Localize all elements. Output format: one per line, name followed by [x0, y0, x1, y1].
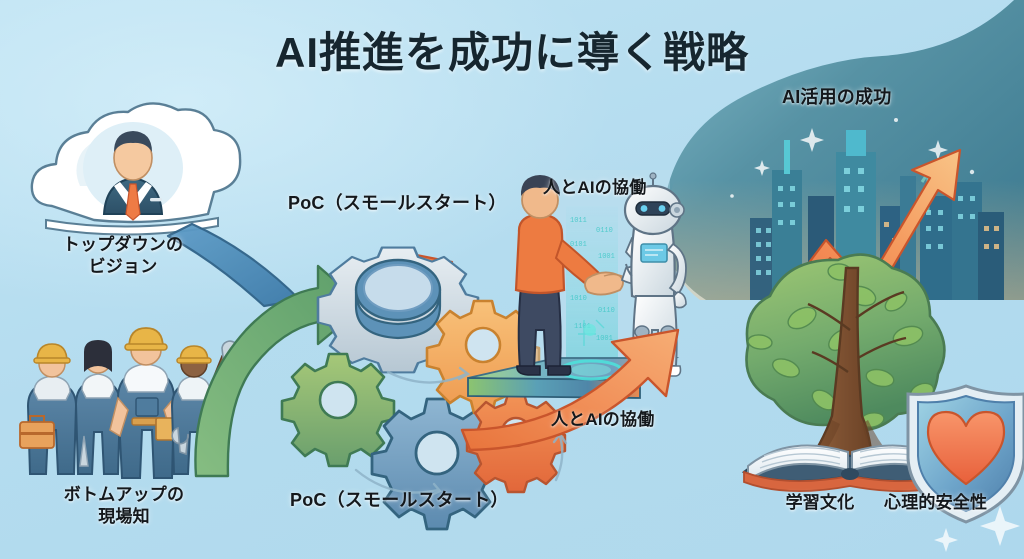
background-wash — [0, 0, 1024, 559]
label-topdown-vision: トップダウンの ビジョン — [28, 234, 218, 278]
page-title: AI推進を成功に導く戦略 — [0, 26, 1024, 81]
label-human-ai-top: 人とAIの協働 — [543, 177, 723, 199]
label-poc-top: PoC（スモールスタート） — [288, 192, 538, 215]
label-poc-bottom: PoC（スモールスタート） — [290, 489, 540, 512]
label-ai-success: AI活用の成功 — [782, 86, 982, 109]
infographic-canvas: 10110110 01011001 11000011 10100110 1101… — [0, 0, 1024, 559]
label-human-ai-bottom: 人とAIの協働 — [551, 409, 731, 431]
label-learning-culture: 学習文化 — [760, 492, 880, 514]
label-bottomup-knowledge: ボトムアップの 現場知 — [24, 484, 224, 528]
label-psychological-safety: 心理的安全性 — [884, 492, 1024, 514]
